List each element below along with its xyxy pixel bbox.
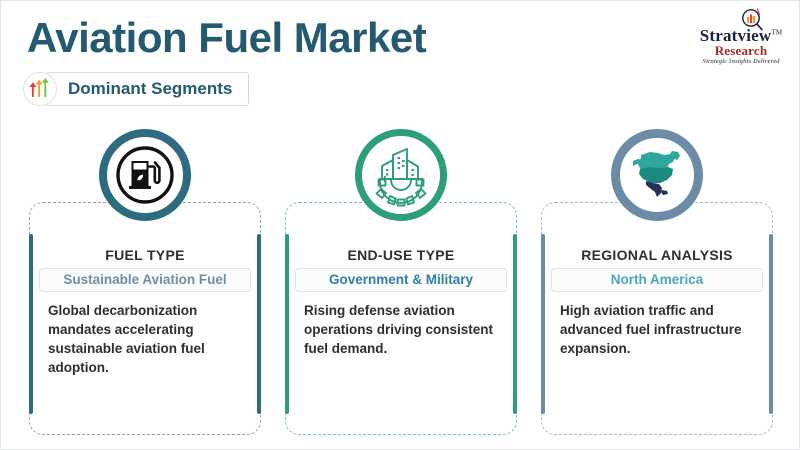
card-description: Global decarbonization mandates accelera… bbox=[48, 301, 247, 378]
fuel-pump-leaf-icon bbox=[99, 129, 191, 221]
page-title: Aviation Fuel Market bbox=[27, 15, 426, 61]
buildings-gear-icon bbox=[355, 129, 447, 221]
brand-logo: StratviewTM Research Strategic Insights … bbox=[689, 9, 793, 69]
subtitle-pill: Dominant Segments bbox=[45, 72, 249, 106]
card-value-badge: Sustainable Aviation Fuel bbox=[39, 268, 251, 292]
card-title: FUEL TYPE bbox=[29, 247, 261, 263]
card-fuel-type[interactable]: FUEL TYPE Sustainable Aviation Fuel Glob… bbox=[29, 129, 261, 435]
north-america-map-icon bbox=[611, 129, 703, 221]
header: Aviation Fuel Market Dominant Segments bbox=[1, 1, 800, 121]
card-description: Rising defense aviation operations drivi… bbox=[304, 301, 503, 358]
subtitle-row: Dominant Segments bbox=[23, 72, 249, 106]
card-description: High aviation traffic and advanced fuel … bbox=[560, 301, 759, 358]
logo-tagline: Strategic Insights Delivered bbox=[689, 58, 793, 65]
card-title: REGIONAL ANALYSIS bbox=[541, 247, 773, 263]
logo-tm: TM bbox=[771, 28, 782, 36]
ascending-bar-arrows-icon bbox=[23, 72, 57, 106]
card-title: END-USE TYPE bbox=[285, 247, 517, 263]
logo-subname: Research bbox=[689, 43, 793, 59]
segment-cards: FUEL TYPE Sustainable Aviation Fuel Glob… bbox=[1, 129, 800, 449]
card-end-use-type[interactable]: END-USE TYPE Government & Military Risin… bbox=[285, 129, 517, 435]
card-value-badge: North America bbox=[551, 268, 763, 292]
infographic-canvas: Aviation Fuel Market Dominant Segments bbox=[0, 0, 800, 450]
card-regional-analysis[interactable]: REGIONAL ANALYSIS North America High avi… bbox=[541, 129, 773, 435]
card-value-badge: Government & Military bbox=[295, 268, 507, 292]
